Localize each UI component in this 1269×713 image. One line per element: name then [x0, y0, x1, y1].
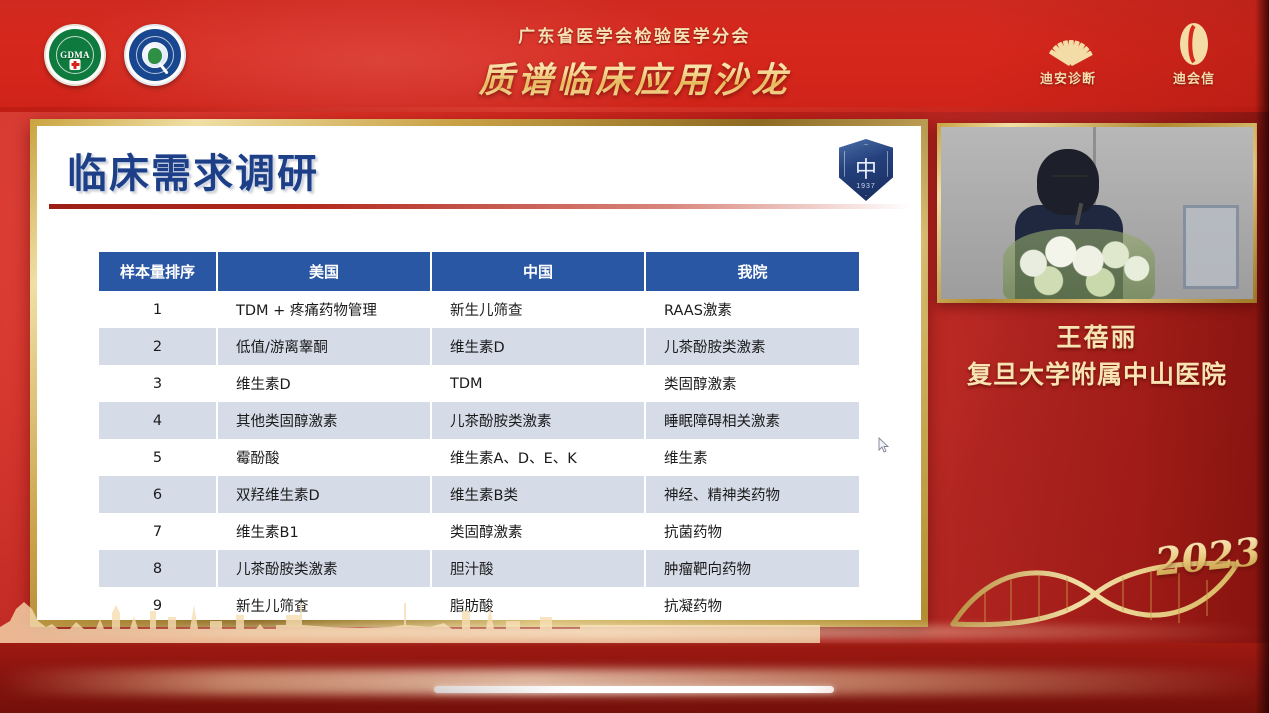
podium-flowers — [1003, 229, 1155, 299]
shield-year: 1937 — [839, 183, 893, 190]
cell-rank: 7 — [99, 513, 217, 550]
cell-rank: 1 — [99, 291, 217, 328]
table-row: 7维生素B1类固醇激素抗菌药物 — [99, 513, 859, 550]
table-body: 1TDM + 疼痛药物管理新生儿筛查RAAS激素2低值/游离睾酮维生素D儿茶酚胺… — [99, 291, 859, 620]
speaker-name: 王蓓丽 — [937, 318, 1257, 354]
col-header-rank: 样本量排序 — [99, 252, 217, 291]
col-header-ours: 我院 — [645, 252, 859, 291]
sponsor-dhx-name: 迪会信 — [1149, 68, 1239, 87]
year-badge: 2023 — [1153, 529, 1263, 585]
bean-shape — [1177, 22, 1211, 66]
cell-cn: TDM — [431, 365, 645, 402]
progress-bar[interactable] — [434, 686, 834, 693]
cell-rank: 2 — [99, 328, 217, 365]
background-door — [1183, 205, 1239, 289]
cell-ours: 神经、精神类药物 — [645, 476, 859, 513]
cell-cn: 维生素A、D、E、K — [431, 439, 645, 476]
speaker-video-frame[interactable] — [937, 123, 1257, 303]
sponsor-logos: 迪安诊断 迪会信 — [1023, 22, 1239, 87]
bean-logo-icon — [1149, 22, 1239, 66]
sponsor-dian: 迪安诊断 — [1023, 22, 1113, 87]
cell-us: 维生素D — [217, 365, 431, 402]
shield-glyph: 中 — [839, 152, 893, 184]
sponsor-dian-name: 迪安诊断 — [1023, 68, 1113, 87]
table-row: 8儿茶酚胺类激素胆汁酸肿瘤靶向药物 — [99, 550, 859, 587]
zhongshan-hospital-shield-icon: 中 1937 — [839, 139, 893, 201]
title-divider — [49, 204, 911, 209]
cell-ours: 肿瘤靶向药物 — [645, 550, 859, 587]
right-edge-shade — [1255, 0, 1269, 713]
speaker-organization: 复旦大学附属中山医院 — [922, 355, 1269, 391]
fan-logo-icon — [1023, 22, 1113, 66]
table-row: 5霉酚酸维生素A、D、E、K维生素 — [99, 439, 859, 476]
cell-cn: 胆汁酸 — [431, 550, 645, 587]
slide-frame: 临床需求调研 中 1937 样本量排序 美国 中国 我院 — [30, 119, 928, 627]
cell-cn: 儿茶酚胺类激素 — [431, 402, 645, 439]
cell-us: 儿茶酚胺类激素 — [217, 550, 431, 587]
slide-content: 临床需求调研 中 1937 样本量排序 美国 中国 我院 — [37, 126, 921, 620]
cell-us: 低值/游离睾酮 — [217, 328, 431, 365]
presentation-stage: GDMA 广东省医学会检验医学分会 质谱临床应用沙龙 — [0, 0, 1269, 713]
cell-us: 其他类固醇激素 — [217, 402, 431, 439]
cell-ours: 睡眠障碍相关激素 — [645, 402, 859, 439]
cell-ours: 抗菌药物 — [645, 513, 859, 550]
cell-rank: 3 — [99, 365, 217, 402]
cell-cn: 新生儿筛查 — [431, 291, 645, 328]
cell-us: 霉酚酸 — [217, 439, 431, 476]
cell-cn: 类固醇激素 — [431, 513, 645, 550]
table-row: 1TDM + 疼痛药物管理新生儿筛查RAAS激素 — [99, 291, 859, 328]
cell-us: 维生素B1 — [217, 513, 431, 550]
table-header-row: 样本量排序 美国 中国 我院 — [99, 252, 859, 291]
cell-rank: 4 — [99, 402, 217, 439]
cell-ours: RAAS激素 — [645, 291, 859, 328]
table-row: 4其他类固醇激素儿茶酚胺类激素睡眠障碍相关激素 — [99, 402, 859, 439]
cell-ours: 类固醇激素 — [645, 365, 859, 402]
table-row: 2低值/游离睾酮维生素D儿茶酚胺类激素 — [99, 328, 859, 365]
table-row: 3维生素DTDM类固醇激素 — [99, 365, 859, 402]
cell-rank: 8 — [99, 550, 217, 587]
event-banner: GDMA 广东省医学会检验医学分会 质谱临床应用沙龙 — [0, 0, 1269, 112]
city-skyline-silhouette — [0, 591, 820, 651]
cell-cn: 维生素B类 — [431, 476, 645, 513]
cell-rank: 5 — [99, 439, 217, 476]
cell-rank: 6 — [99, 476, 217, 513]
cell-cn: 维生素D — [431, 328, 645, 365]
mouse-cursor-icon — [878, 437, 890, 453]
col-header-cn: 中国 — [431, 252, 645, 291]
col-header-us: 美国 — [217, 252, 431, 291]
cell-ours: 儿茶酚胺类激素 — [645, 328, 859, 365]
cell-ours: 维生素 — [645, 439, 859, 476]
banner-bottom-edge — [0, 107, 1269, 112]
sponsor-dhx: 迪会信 — [1149, 22, 1239, 87]
clinical-demand-table: 样本量排序 美国 中国 我院 1TDM + 疼痛药物管理新生儿筛查RAAS激素2… — [99, 252, 859, 620]
page-title: 临床需求调研 — [67, 141, 319, 199]
table-row: 6双羟维生素D维生素B类神经、精神类药物 — [99, 476, 859, 513]
cell-us: TDM + 疼痛药物管理 — [217, 291, 431, 328]
glasses-icon — [1051, 175, 1087, 183]
cell-us: 双羟维生素D — [217, 476, 431, 513]
light-streak-upper — [0, 625, 1269, 639]
speaker-video[interactable] — [941, 127, 1253, 299]
